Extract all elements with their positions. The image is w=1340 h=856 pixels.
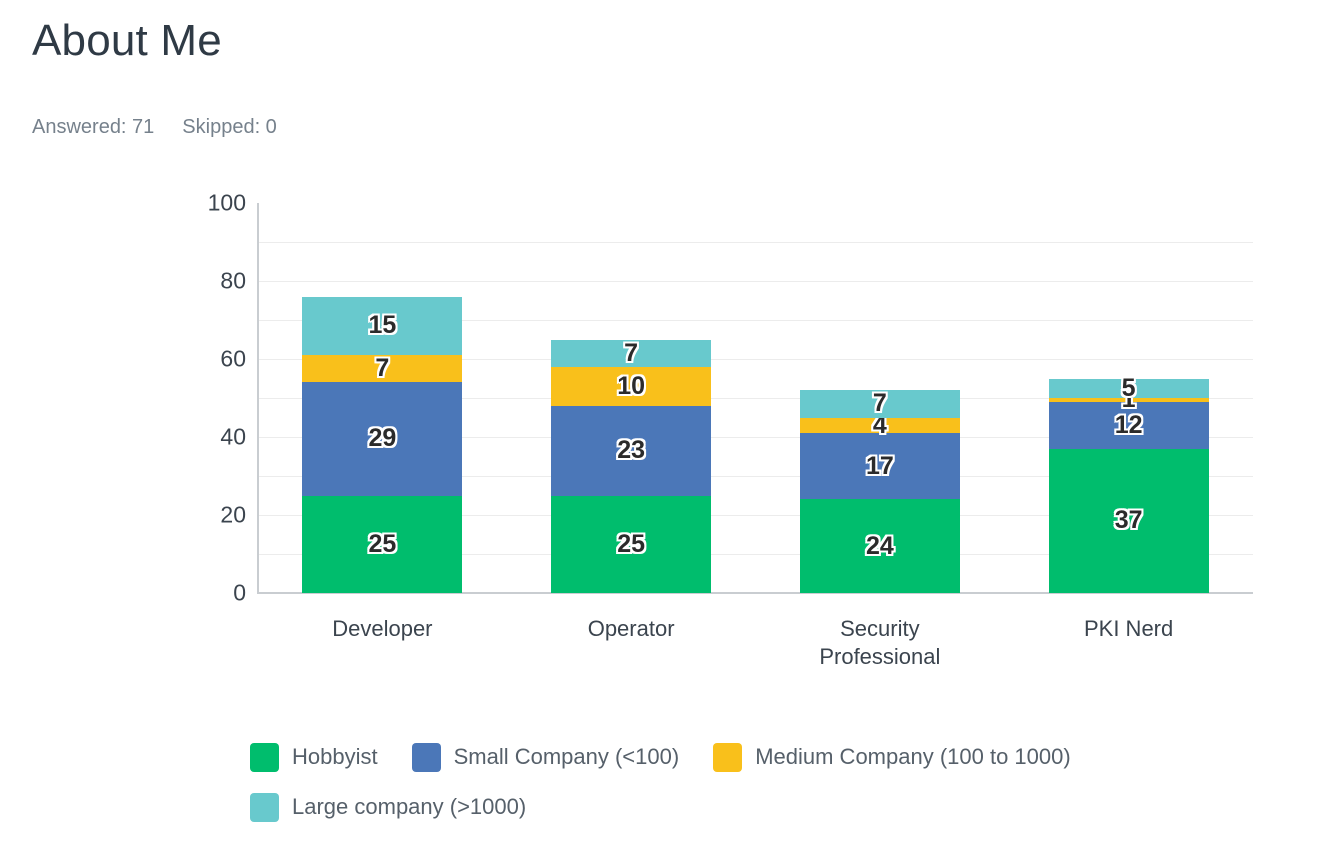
bar-group[interactable]: 2529715 [302, 297, 462, 593]
legend-label: Hobbyist [292, 744, 378, 770]
bar-segment[interactable]: 25 [302, 496, 462, 594]
bar-segment-value: 17 [866, 454, 894, 479]
bar-segment-value: 7 [375, 356, 389, 381]
y-tick-label: 100 [208, 190, 246, 217]
bar-segment-value: 25 [368, 532, 396, 557]
x-tick-label-line: Developer [262, 615, 502, 643]
bar-segment-value: 37 [1115, 508, 1143, 533]
bar-segment-value: 29 [368, 426, 396, 451]
bar-segment[interactable]: 37 [1049, 449, 1209, 593]
bar-segment-value: 7 [624, 341, 638, 366]
bar-segment[interactable]: 29 [302, 382, 462, 495]
bar-segment-value: 12 [1115, 413, 1143, 438]
legend-swatch [412, 743, 441, 772]
bar-group[interactable]: 371215 [1049, 379, 1209, 593]
y-tick-label: 80 [220, 268, 246, 295]
y-tick-label: 20 [220, 502, 246, 529]
bar-segment-value: 10 [617, 374, 645, 399]
bar-segment[interactable]: 7 [302, 355, 462, 382]
bar-segment[interactable]: 24 [800, 499, 960, 593]
legend-label: Large company (>1000) [292, 794, 526, 820]
y-tick-label: 0 [233, 580, 246, 607]
plot-area: 25297152523107241747371215 [258, 203, 1253, 593]
bar-group[interactable]: 2523107 [551, 340, 711, 593]
bar-segment[interactable]: 1 [1049, 398, 1209, 402]
bar-segment-value: 5 [1122, 376, 1136, 401]
x-tick-label: PKI Nerd [1009, 615, 1249, 643]
bar-segment-value: 25 [617, 532, 645, 557]
x-tick-label-line: Security [760, 615, 1000, 643]
bar-segment[interactable]: 23 [551, 406, 711, 496]
bar-segment[interactable]: 17 [800, 433, 960, 499]
bar-segment-value: 24 [866, 534, 894, 559]
bar-segment[interactable]: 10 [551, 367, 711, 406]
bar-segment[interactable]: 15 [302, 297, 462, 356]
bar-segment[interactable]: 4 [800, 418, 960, 434]
bar-segment[interactable]: 12 [1049, 402, 1209, 449]
x-tick-label-line: Professional [760, 643, 1000, 671]
bar-segment[interactable]: 7 [551, 340, 711, 367]
chart-legend: HobbyistSmall Company (<100)Medium Compa… [250, 738, 1250, 826]
legend-label: Medium Company (100 to 1000) [755, 744, 1071, 770]
x-tick-label-line: PKI Nerd [1009, 615, 1249, 643]
legend-item[interactable]: Large company (>1000) [250, 788, 526, 826]
bar-segment-value: 7 [873, 391, 887, 416]
y-tick-label: 40 [220, 424, 246, 451]
survey-result-page: About Me Answered: 71 Skipped: 0 0204060… [0, 0, 1340, 856]
x-tick-label: SecurityProfessional [760, 615, 1000, 671]
bar-segment[interactable]: 7 [800, 390, 960, 417]
bar-segment[interactable]: 25 [551, 496, 711, 594]
legend-item[interactable]: Medium Company (100 to 1000) [713, 738, 1071, 776]
bar-group[interactable]: 241747 [800, 390, 960, 593]
legend-item[interactable]: Small Company (<100) [412, 738, 680, 776]
stacked-bar-chart: 020406080100 25297152523107241747371215 … [0, 0, 1340, 856]
legend-item[interactable]: Hobbyist [250, 738, 378, 776]
legend-swatch [250, 743, 279, 772]
y-tick-label: 60 [220, 346, 246, 373]
x-tick-label: Developer [262, 615, 502, 643]
x-tick-label-line: Operator [511, 615, 751, 643]
legend-label: Small Company (<100) [454, 744, 680, 770]
bar-segment-value: 23 [617, 438, 645, 463]
x-tick-label: Operator [511, 615, 751, 643]
legend-swatch [250, 793, 279, 822]
bar-segment[interactable]: 5 [1049, 379, 1209, 399]
legend-swatch [713, 743, 742, 772]
bar-segment-value: 15 [368, 313, 396, 338]
